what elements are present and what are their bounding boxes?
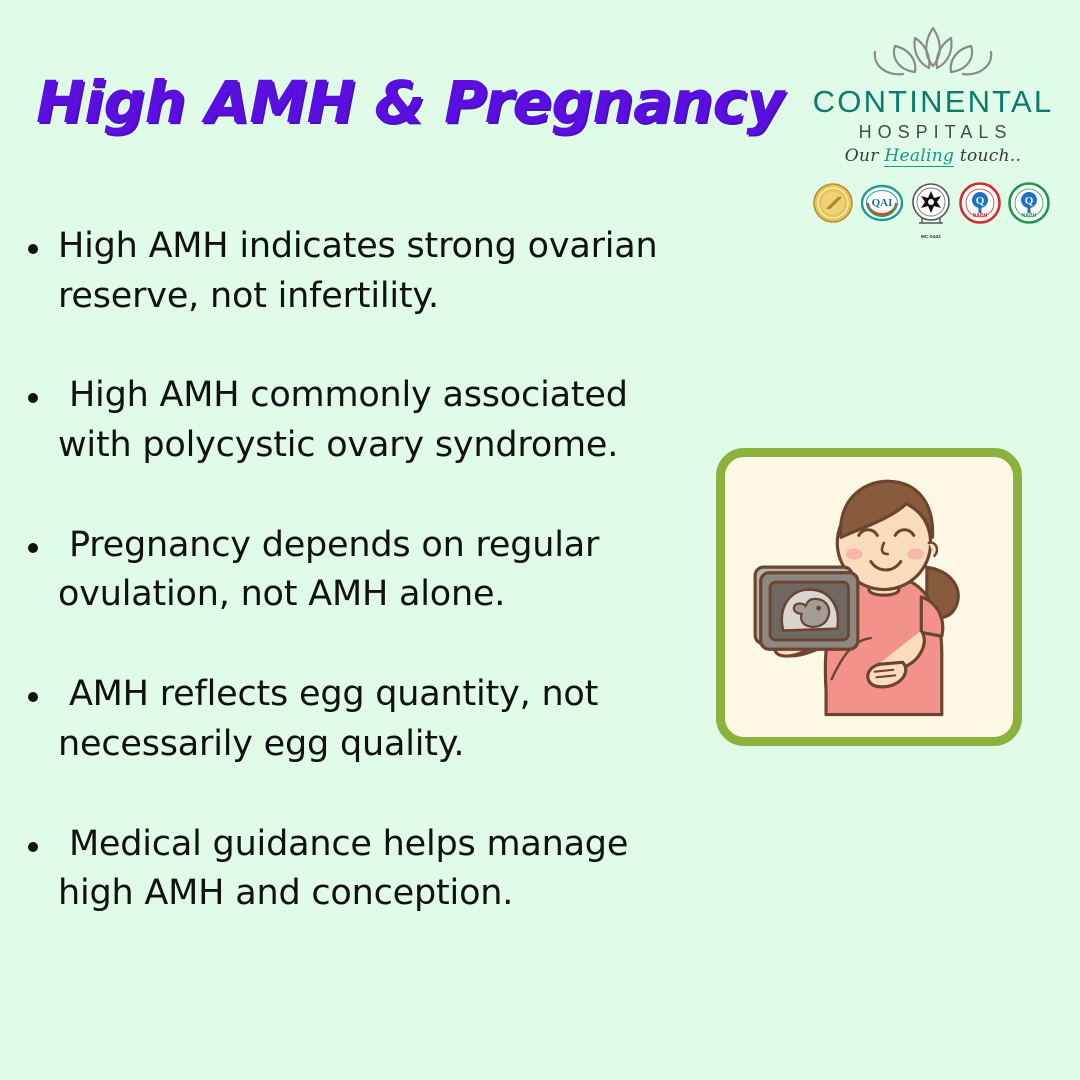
accreditation-badge: Q NABH: [1008, 182, 1050, 230]
brand-subtitle: HOSPITALS: [808, 122, 1058, 143]
pregnant-woman-ultrasound-illustration: [716, 448, 1022, 746]
bullet-dot-icon: [28, 244, 38, 254]
list-item: Medical guidance helps manage high AMH a…: [28, 820, 728, 919]
brand-name: CONTINENTAL: [808, 86, 1058, 119]
accreditation-badge: MC-0442: [910, 182, 952, 239]
badge-caption: MC-0442: [910, 234, 952, 239]
bullet-dot-icon: [28, 692, 38, 702]
list-item: High AMH indicates strong ovarian reserv…: [28, 222, 728, 321]
bullet-list: High AMH indicates strong ovarian reserv…: [28, 222, 728, 969]
accreditation-badge: [812, 182, 854, 230]
bullet-dot-icon: [28, 543, 38, 553]
accreditation-badge: Q NABH: [959, 182, 1001, 230]
svg-text:NABH: NABH: [973, 213, 988, 219]
qai-badge-icon: QAI: [861, 211, 903, 228]
brand-tagline: Our Healing touch..: [808, 146, 1058, 166]
svg-text:NABH: NABH: [1022, 213, 1037, 219]
bullet-dot-icon: [28, 393, 38, 403]
nabl-star-badge-icon: [910, 215, 952, 232]
list-item-text: High AMH indicates strong ovarian reserv…: [58, 222, 708, 321]
list-item-text: Medical guidance helps manage high AMH a…: [58, 820, 708, 919]
gold-medal-badge-icon: [812, 211, 854, 228]
svg-text:Q: Q: [1025, 195, 1034, 207]
svg-text:QAI: QAI: [872, 197, 893, 209]
list-item-text: Pregnancy depends on regular ovulation, …: [58, 521, 708, 620]
nabh-green-badge-icon: Q NABH: [1008, 211, 1050, 228]
tagline-highlight: Healing: [884, 146, 954, 167]
tagline-prefix: Our: [845, 146, 885, 166]
bullet-dot-icon: [28, 842, 38, 852]
list-item: Pregnancy depends on regular ovulation, …: [28, 521, 728, 620]
list-item-text: AMH reflects egg quantity, not necessari…: [58, 670, 708, 769]
tagline-suffix: touch..: [954, 146, 1021, 166]
lotus-icon: [808, 22, 1058, 84]
list-item: High AMH commonly associated with polycy…: [28, 371, 728, 470]
list-item-text: High AMH commonly associated with polycy…: [58, 371, 708, 470]
nabh-red-badge-icon: Q NABH: [959, 211, 1001, 228]
page-title: High AMH & Pregnancy: [36, 68, 784, 136]
accreditation-badge: QAI: [861, 182, 903, 230]
list-item: AMH reflects egg quantity, not necessari…: [28, 670, 728, 769]
accreditation-badges: QAI MC-0442 Q NABH: [812, 182, 1050, 239]
svg-text:Q: Q: [976, 195, 985, 207]
brand-logo: CONTINENTAL HOSPITALS Our Healing touch.…: [808, 22, 1058, 166]
